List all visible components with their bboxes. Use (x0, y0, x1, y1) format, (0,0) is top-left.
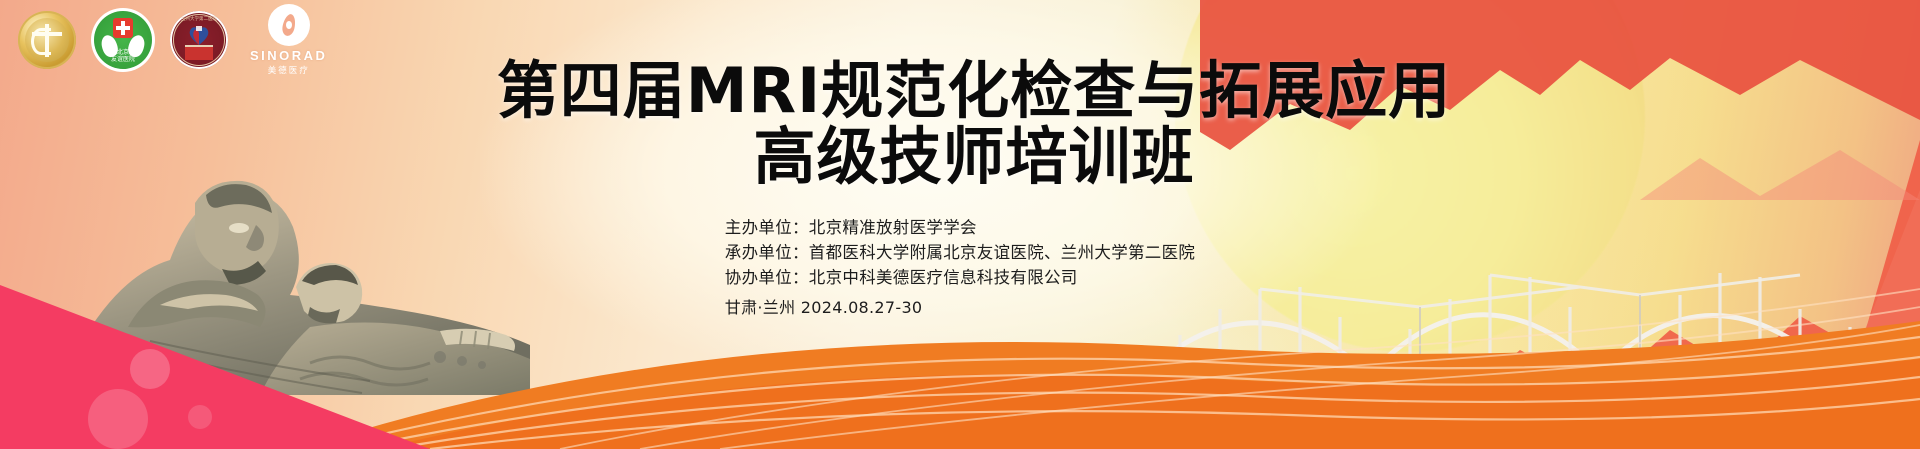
logo-lanzhou-university-second-hospital[interactable]: 兰州大学第二医院 (170, 11, 228, 69)
logo-caption-line1: 北京 (94, 50, 152, 57)
maroon-emblem-icon: 兰州大学第二医院 (170, 11, 228, 69)
conference-banner: 北京 友谊医院 兰州大学第二医院 SINORAD 美 (0, 0, 1920, 449)
banner-info-block: 主办单位：北京精准放射医学学会 承办单位：首都医科大学附属北京友谊医院、兰州大学… (0, 215, 1920, 320)
logo-beijing-friendship-hospital[interactable]: 北京 友谊医院 (94, 11, 152, 69)
logo-sinorad[interactable]: SINORAD 美德医疗 (250, 4, 327, 76)
organizer-line: 主办单位：北京精准放射医学学会 (725, 215, 1195, 240)
sponsor-logo-row: 北京 友谊医院 兰州大学第二医院 SINORAD 美 (18, 4, 327, 76)
logo-beijing-precision-radiology-society[interactable] (18, 11, 76, 69)
maroon-emblem-caption: 兰州大学第二医院 (170, 16, 228, 22)
gold-emblem-icon (18, 11, 76, 69)
sinorad-eye-icon (268, 4, 310, 46)
co-organizer-line: 协办单位：北京中科美德医疗信息科技有限公司 (725, 265, 1195, 290)
sinorad-wordmark: SINORAD (250, 48, 327, 63)
host-line: 承办单位：首都医科大学附属北京友谊医院、兰州大学第二医院 (725, 240, 1195, 265)
green-emblem-icon: 北京 友谊医院 (94, 11, 152, 69)
location-date-line: 甘肃·兰州 2024.08.27-30 (725, 295, 1195, 320)
sinorad-wordmark-cn: 美德医疗 (268, 64, 310, 76)
logo-caption-line2: 友谊医院 (94, 57, 152, 64)
heart-shield-icon (186, 26, 212, 46)
